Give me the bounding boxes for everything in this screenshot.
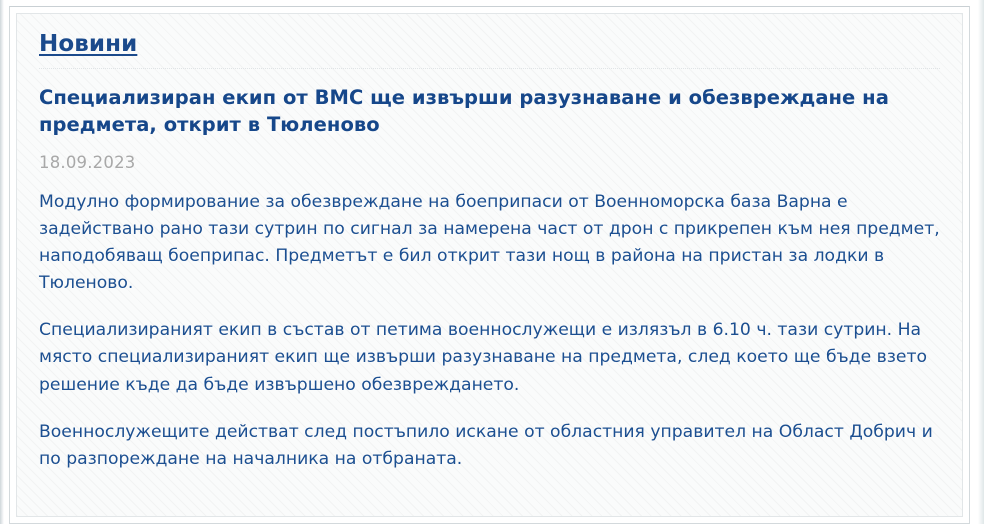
news-article: Специализиран екип от ВМС ще извърши раз… [39,70,940,473]
section-heading-link[interactable]: Новини [39,31,137,57]
article-paragraph: Специализираният екип в състав от петима… [39,317,940,399]
article-paragraph: Военнослужещите действат след постъпило … [39,419,940,473]
outer-frame: Новини Специализиран екип от ВМС ще извъ… [9,6,970,524]
article-paragraph: Модулно формирование за обезвреждане на … [39,189,940,298]
article-title: Специализиран екип от ВМС ще извърши раз… [39,84,919,139]
page-viewport: Новини Специализиран екип от ВМС ще извъ… [0,0,984,524]
content-panel: Новини Специализиран екип от ВМС ще извъ… [16,13,963,517]
section-heading: Новини [39,32,940,56]
article-date: 18.09.2023 [39,153,940,173]
article-body: Модулно формирование за обезвреждане на … [39,189,940,474]
